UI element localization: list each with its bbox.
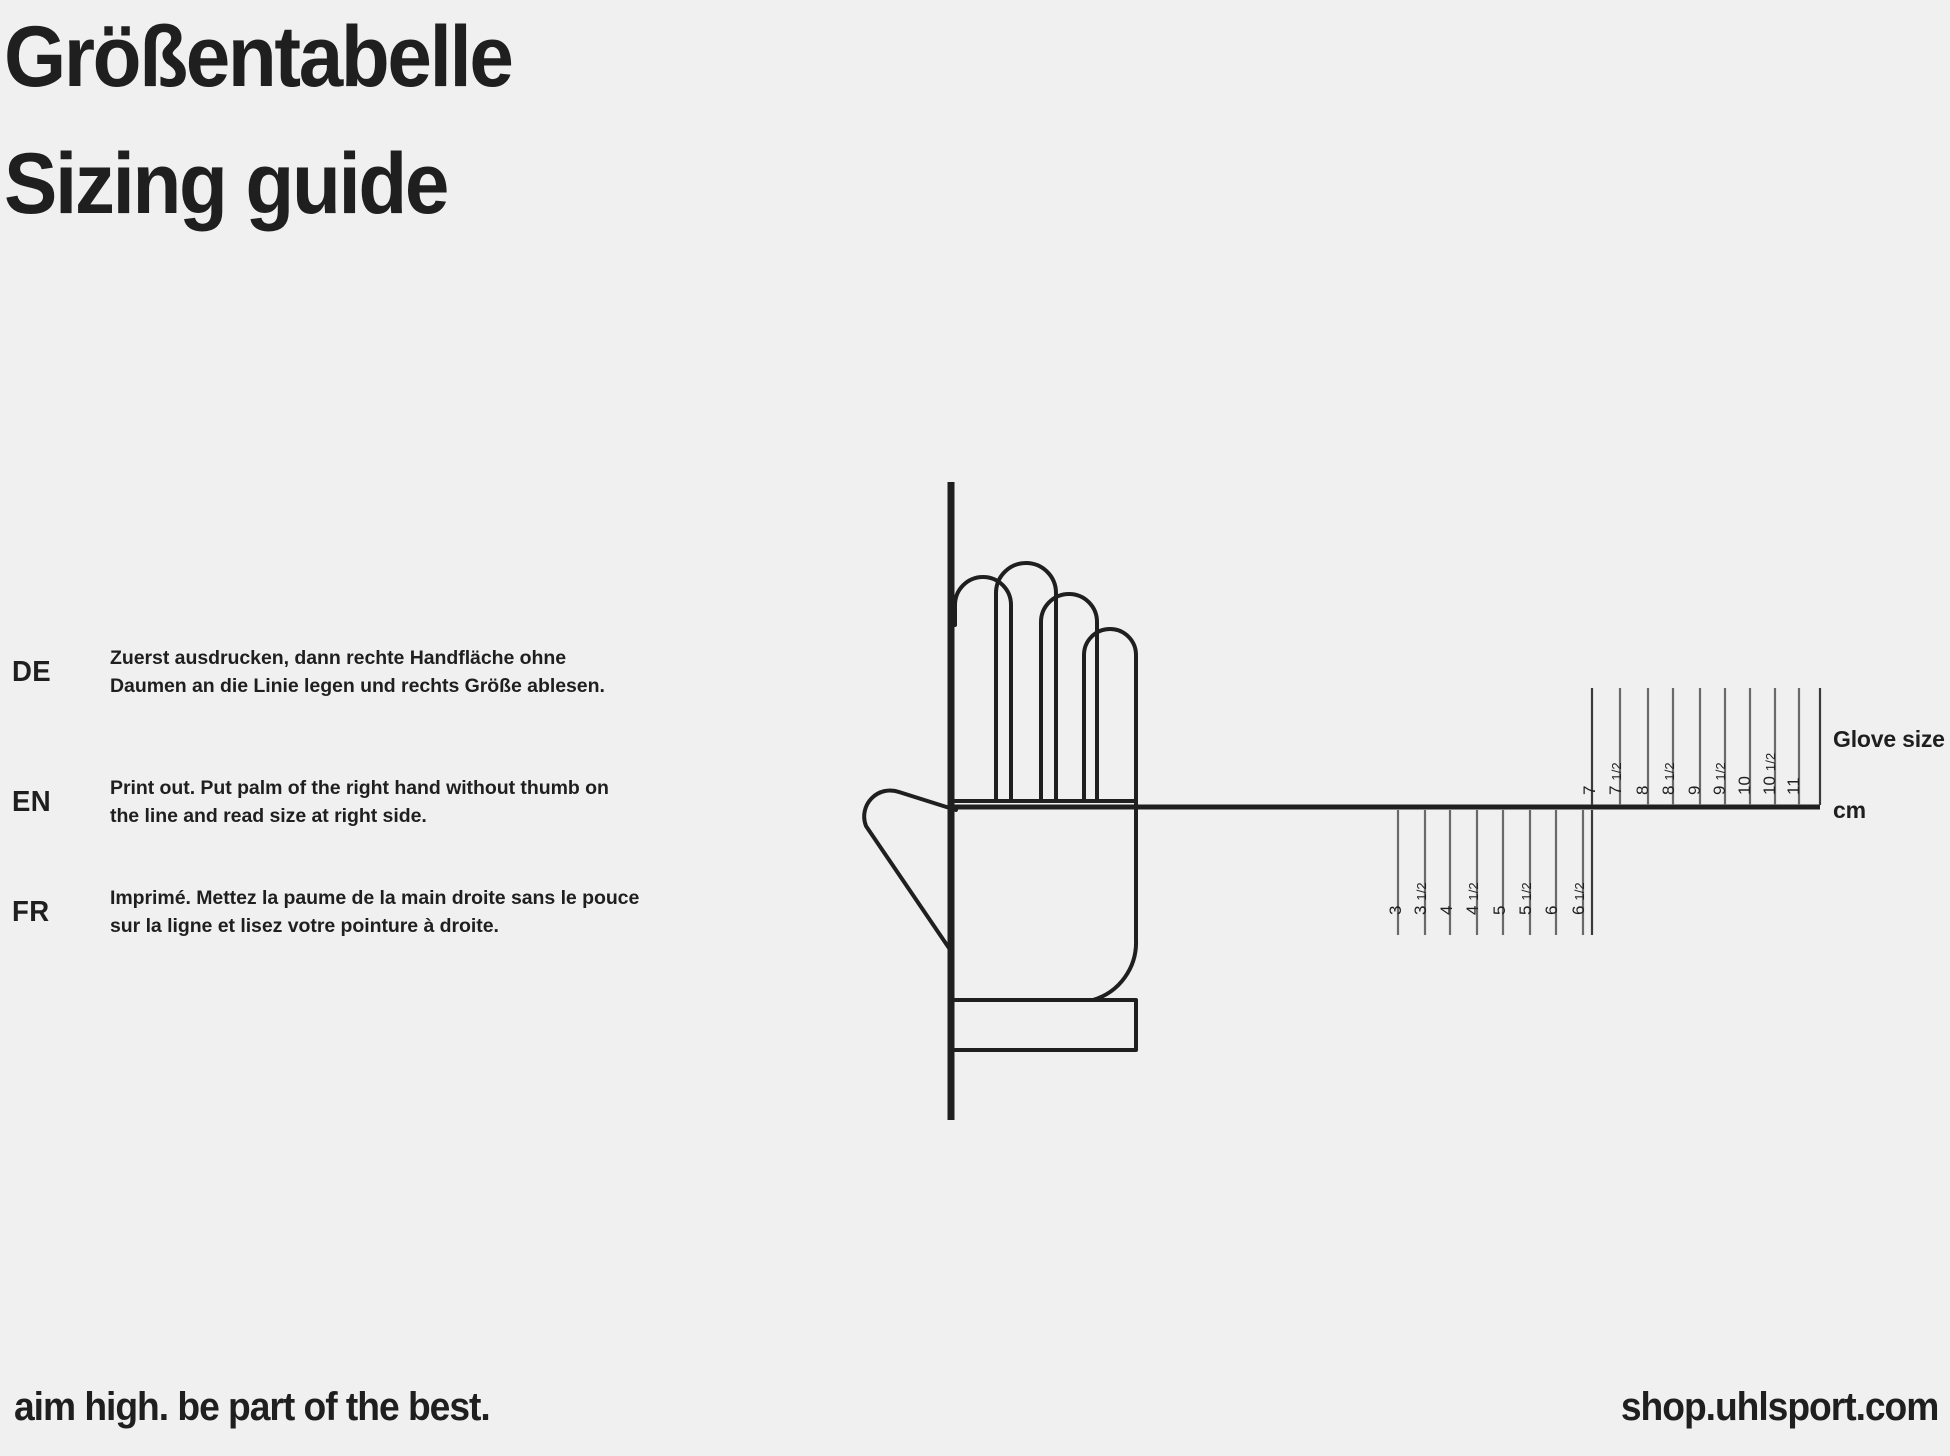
language-code-de: DE	[12, 656, 105, 689]
middle-finger-icon	[996, 563, 1056, 800]
footer-slogan: aim high. be part of the best.	[14, 1385, 490, 1430]
instruction-block-de: DE Zuerst ausdrucken, dann rechte Handfl…	[12, 645, 652, 700]
glove-size-label: 10	[1735, 776, 1755, 795]
cm-label: 4	[1437, 905, 1457, 915]
glove-size-label: 7 1/2	[1606, 762, 1626, 795]
language-code-fr: FR	[12, 896, 105, 929]
pinky-finger-icon	[1084, 629, 1136, 800]
language-code-en: EN	[12, 786, 105, 819]
title-line-en: Sizing guide	[4, 121, 934, 248]
cm-label: 4 1/2	[1463, 882, 1483, 915]
sizing-guide-page: Größentabelle Sizing guide DE Zuerst aus…	[0, 0, 1950, 1456]
thumb-icon	[864, 790, 956, 951]
glove-size-label: 9	[1685, 785, 1705, 795]
glove-size-label: 10 1/2	[1760, 753, 1780, 795]
index-finger-icon	[955, 577, 1011, 800]
cm-label: 5 1/2	[1516, 882, 1536, 915]
footer-shop-url[interactable]: shop.uhlsport.com	[1621, 1385, 1938, 1430]
cm-ticks	[1398, 810, 1592, 935]
instruction-block-fr: FR Imprimé. Mettez la paume de la main d…	[12, 885, 652, 940]
instruction-text-de: Zuerst ausdrucken, dann rechte Handfläch…	[110, 645, 640, 700]
hand-outline	[864, 563, 1136, 1050]
glove-size-caption: Glove size	[1833, 726, 1945, 753]
cm-label: 3	[1386, 905, 1406, 915]
glove-size-label: 8 1/2	[1659, 762, 1679, 795]
glove-size-label: 11	[1784, 777, 1804, 795]
title-line-de: Größentabelle	[4, 0, 934, 121]
instruction-text-en: Print out. Put palm of the right hand wi…	[110, 775, 640, 830]
cm-label: 5	[1490, 905, 1510, 915]
glove-size-label: 8	[1633, 785, 1653, 795]
cm-label: 6 1/2	[1569, 882, 1589, 915]
cuff-outline	[955, 1000, 1136, 1050]
glove-size-label: 9 1/2	[1710, 762, 1730, 795]
glove-size-label: 7	[1580, 785, 1600, 795]
instruction-block-en: EN Print out. Put palm of the right hand…	[12, 775, 652, 830]
ring-finger-icon	[1041, 594, 1097, 800]
cm-caption: cm	[1833, 797, 1866, 824]
cm-label: 6	[1542, 905, 1562, 915]
instruction-text-fr: Imprimé. Mettez la paume de la main droi…	[110, 885, 640, 940]
page-title: Größentabelle Sizing guide	[4, 0, 1004, 249]
palm-outline	[955, 801, 1136, 1000]
cm-label: 3 1/2	[1411, 882, 1431, 915]
